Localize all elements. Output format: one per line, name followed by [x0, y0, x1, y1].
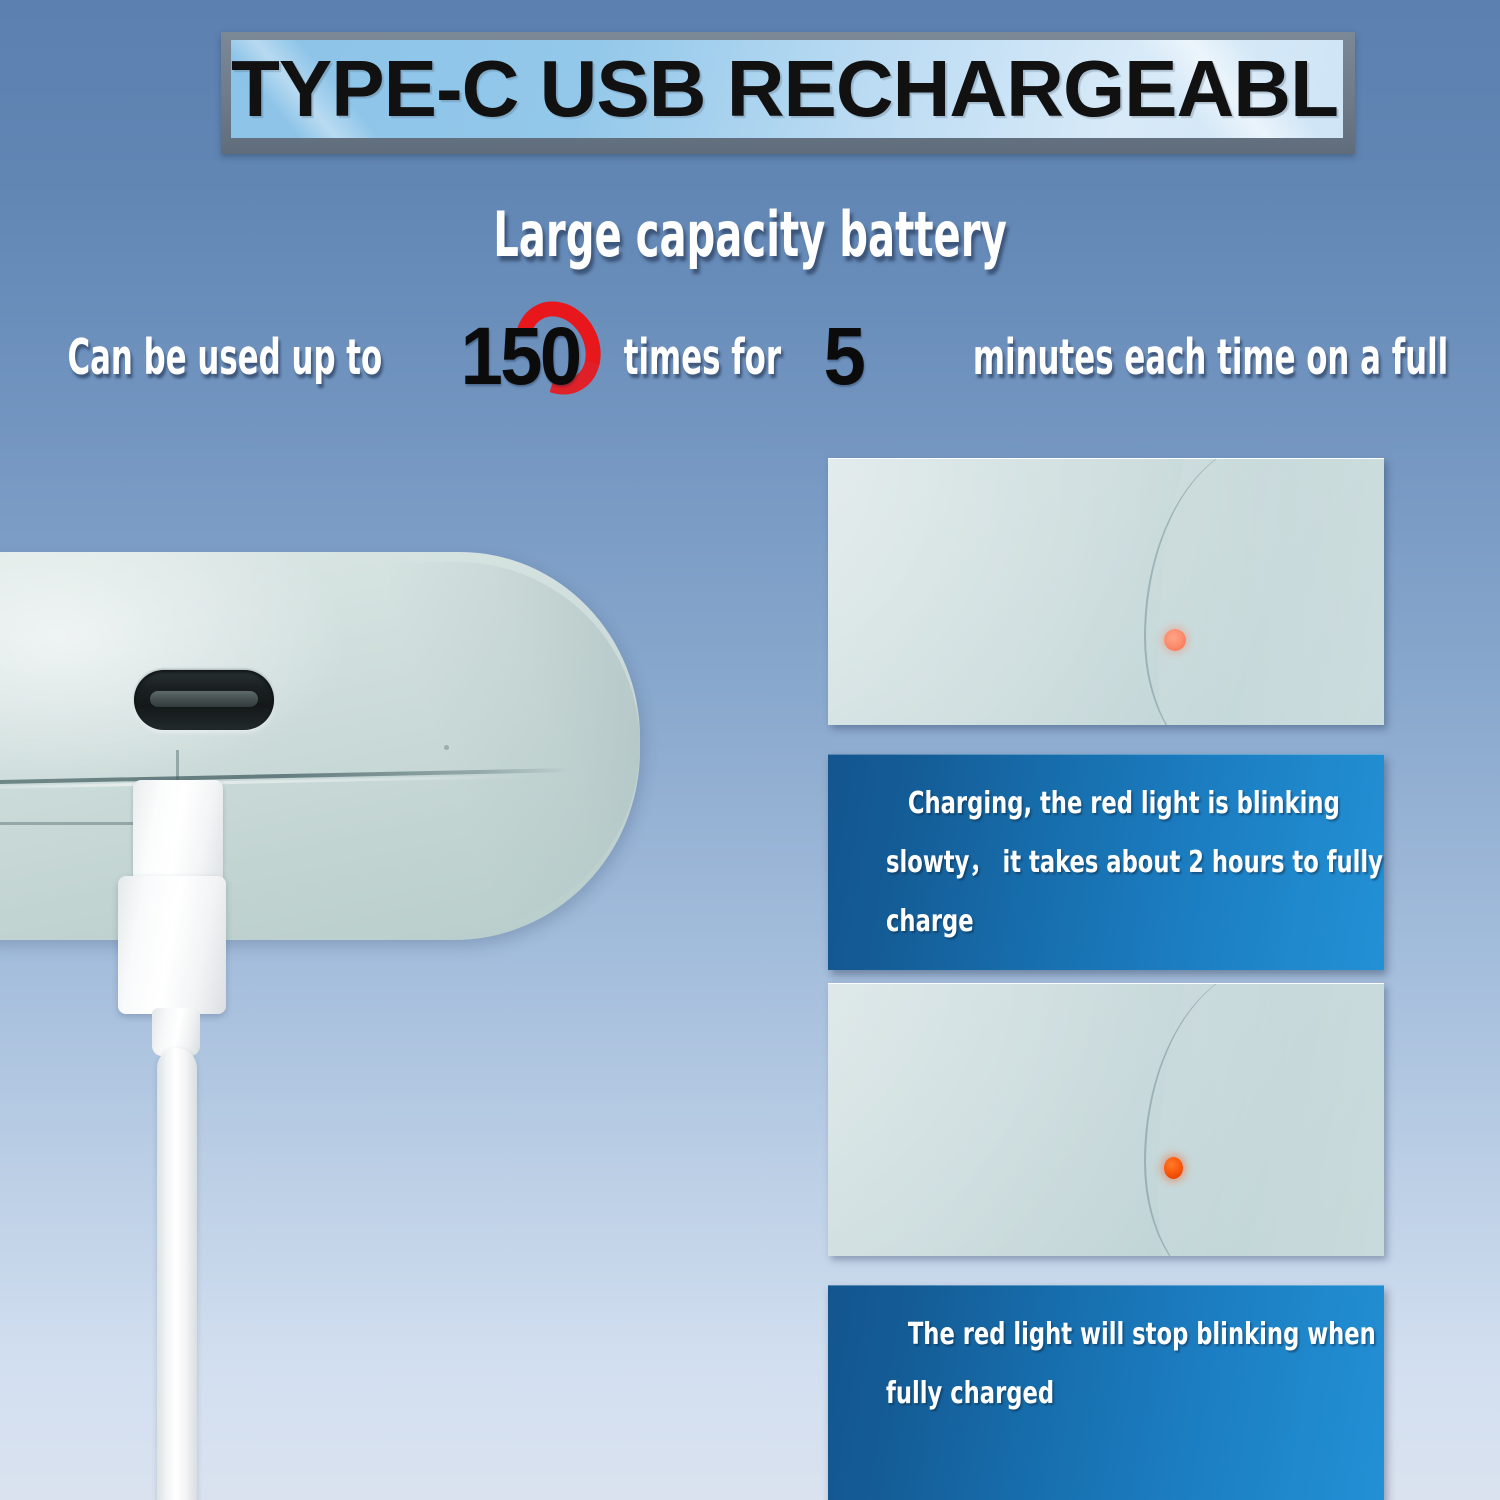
header-banner-panel: TYPE-C USB RECHARGEABLE — [231, 40, 1343, 138]
caption-line: fully charged — [886, 1379, 1271, 1409]
caption-charged: The red light will stop blinking when fu… — [828, 1285, 1384, 1500]
product-photo — [0, 552, 640, 942]
headline-subline: Can be used up to 150 times for 5 minute… — [0, 316, 1500, 398]
banner-title: TYPE-C USB RECHARGEABLE — [231, 49, 1343, 129]
times-value: 150 — [461, 316, 580, 398]
caption-line: charge — [886, 907, 1271, 937]
device-surface-closeup — [828, 983, 1384, 1256]
subline-part-2: times for — [624, 333, 781, 382]
usb-c-connector-tip — [133, 780, 223, 880]
headline-main: Large capacity battery — [210, 204, 1290, 266]
device-surface-speck — [444, 745, 449, 750]
usb-c-port-icon — [134, 670, 274, 730]
led-indicator-solid — [1164, 1157, 1183, 1179]
minutes-highlight: 5 — [822, 316, 865, 398]
usb-c-connector-body — [118, 876, 226, 1014]
times-highlight: 150 — [456, 316, 584, 398]
product-infographic: TYPE-C USB RECHARGEABLE Large capacity b… — [0, 0, 1500, 1500]
caption-charging: Charging, the red light is blinking slow… — [828, 754, 1384, 970]
subline-part-3: minutes each time on a full — [973, 333, 1448, 382]
usb-c-port-tongue — [150, 691, 258, 707]
caption-line: The red light will stop blinking when — [886, 1320, 1271, 1350]
led-indicator-blinking — [1164, 629, 1186, 651]
photo-panel-charged — [828, 983, 1384, 1256]
device-surface-closeup — [828, 458, 1384, 725]
device-body — [0, 552, 640, 940]
caption-line: slowty， it takes about 2 hours to fully — [886, 848, 1271, 878]
caption-line: Charging, the red light is blinking — [886, 789, 1271, 819]
subline-part-1: Can be used up to — [67, 333, 382, 382]
minutes-value: 5 — [823, 316, 863, 398]
photo-panel-charging — [828, 458, 1384, 725]
header-banner: TYPE-C USB RECHARGEABLE — [221, 32, 1355, 154]
usb-cable — [157, 1048, 197, 1500]
